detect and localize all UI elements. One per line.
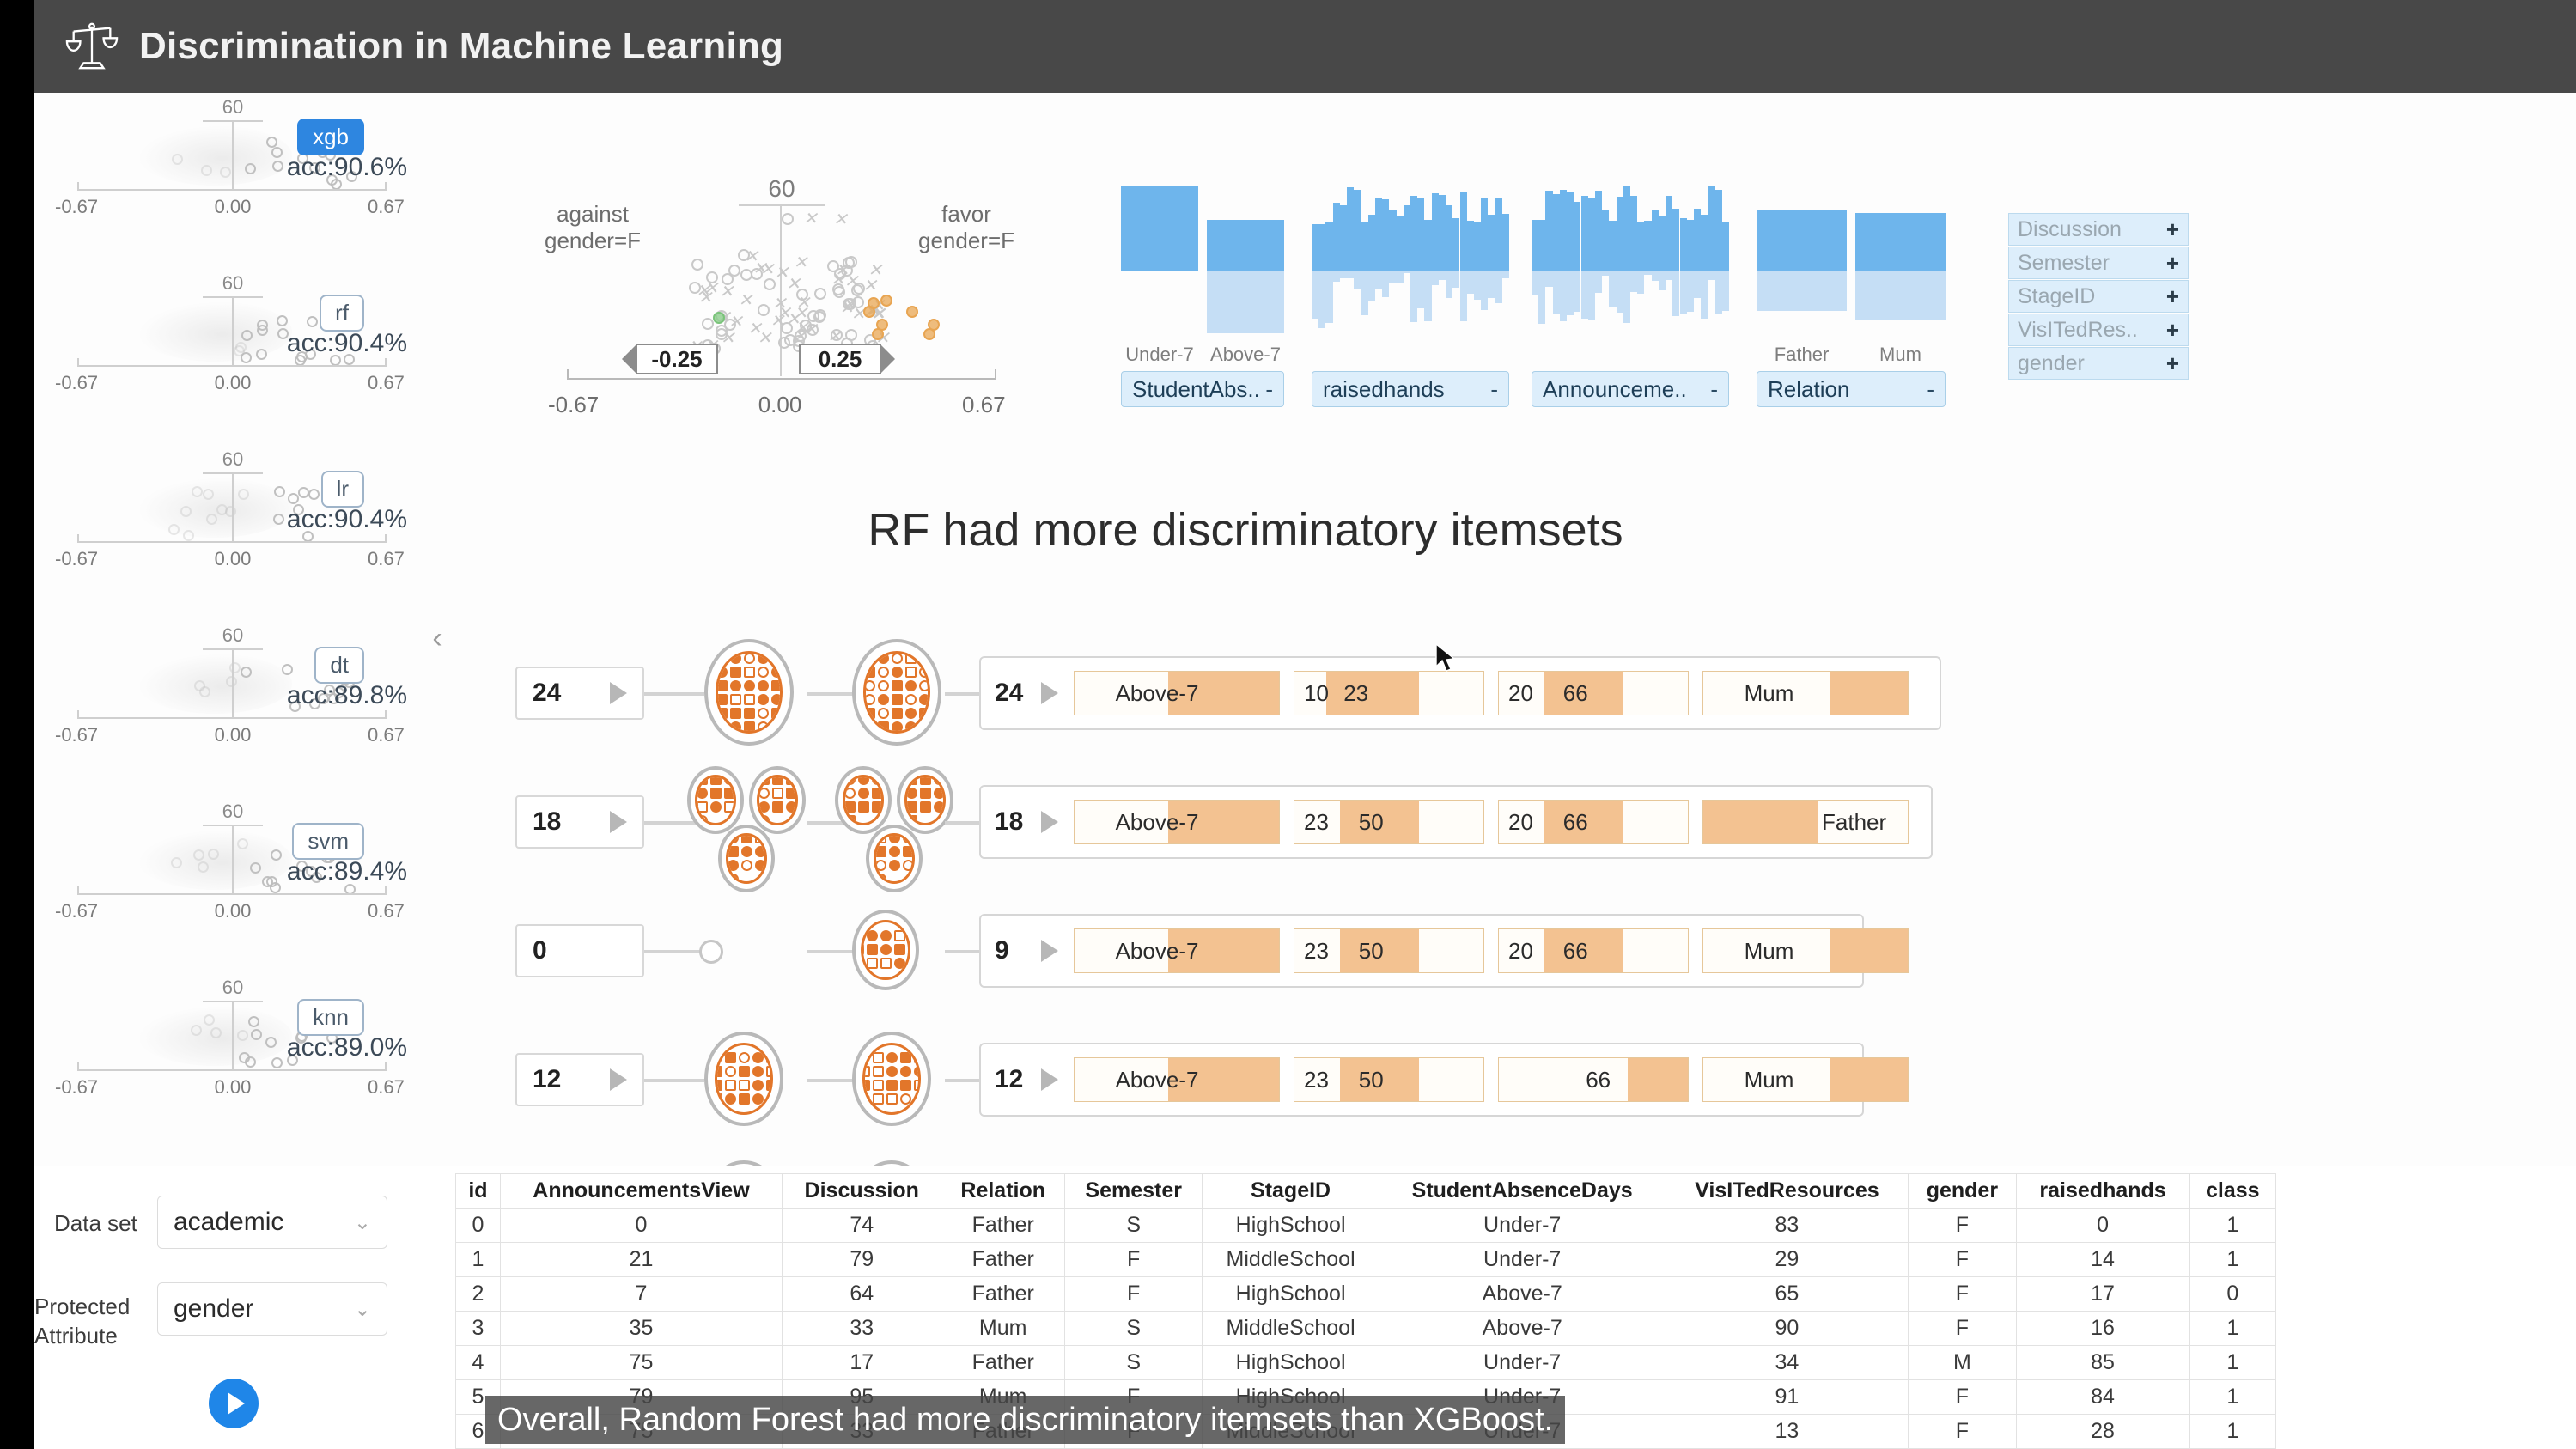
table-cell: Above-7 — [1379, 1277, 1666, 1312]
itemset-population-glyph[interactable] — [687, 766, 744, 834]
table-column-header[interactable]: gender — [1909, 1174, 2016, 1209]
main-canvas: 60-0.670.000.67xgbacc:90.6%60-0.670.000.… — [34, 93, 2576, 1166]
histogram-bar — [1715, 192, 1722, 338]
itemset-chip-range-high: 66 — [1586, 1067, 1611, 1093]
histogram-bar — [1630, 192, 1637, 338]
play-icon — [228, 1392, 245, 1415]
attribute-list-item-label: gender — [2018, 351, 2085, 376]
histogram-bar — [1567, 192, 1574, 338]
attribute-list-item-discussion[interactable]: Discussion+ — [2008, 213, 2189, 246]
histogram-bar — [1637, 192, 1644, 338]
itemset-connector — [644, 950, 704, 953]
histogram-group-2: Announceme..- — [1532, 192, 1729, 416]
caption-text: Overall, Random Forest had more discrimi… — [497, 1402, 1553, 1439]
add-attribute-icon[interactable]: + — [2166, 283, 2179, 310]
scatter-point — [751, 268, 763, 280]
histogram-category-label: Under-7 — [1121, 344, 1198, 366]
table-column-header[interactable]: AnnouncementsView — [500, 1174, 782, 1209]
scatter-point: ✕ — [835, 265, 847, 277]
table-cell: 28 — [2016, 1415, 2189, 1449]
model-axis-tick: -0.67 — [55, 372, 98, 394]
itemset-chip[interactable]: Above-7 — [1074, 928, 1280, 973]
table-cell: Father — [941, 1243, 1065, 1277]
scatter-point: ✕ — [786, 314, 798, 326]
table-cell: HighSchool — [1203, 1209, 1379, 1243]
histogram-attribute-select-0[interactable]: StudentAbs..- — [1121, 371, 1284, 407]
table-row[interactable]: 2764FatherFHighSchoolAbove-765F170 — [456, 1277, 2276, 1312]
itemset-population-glyph[interactable] — [866, 825, 923, 892]
model-accuracy-dt: acc:89.8% — [287, 681, 407, 710]
histogram-bar — [1581, 192, 1588, 338]
scatter-point: ✕ — [803, 213, 815, 225]
itemset-chip[interactable]: 2350 — [1294, 928, 1484, 973]
table-cell: 1 — [2189, 1415, 2275, 1449]
model-axis-horizontal — [77, 541, 387, 543]
itemset-chip[interactable]: 2066 — [1498, 800, 1689, 844]
histogram-bar — [1574, 192, 1580, 338]
itemset-chip-text: Above-7 — [1075, 801, 1279, 843]
itemset-chip[interactable]: Mum — [1702, 928, 1909, 973]
table-row[interactable]: 0074FatherSHighSchoolUnder-783F01 — [456, 1209, 2276, 1243]
table-column-header[interactable]: class — [2189, 1174, 2275, 1209]
table-cell: 4 — [456, 1346, 501, 1380]
histogram-bar — [1207, 192, 1284, 338]
itemset-population-glyph[interactable] — [835, 766, 892, 834]
model-axis-tick: 0.67 — [368, 724, 405, 746]
headline-text: RF had more discriminatory itemsets — [515, 503, 1976, 557]
model-axis-tick: -0.67 — [55, 196, 98, 218]
itemset-population-glyph[interactable] — [852, 1032, 931, 1126]
table-cell: 65 — [1666, 1277, 1909, 1312]
table-cell: F — [1909, 1243, 2016, 1277]
histogram-bar — [1333, 192, 1340, 338]
table-column-header[interactable]: StudentAbsenceDays — [1379, 1174, 1666, 1209]
model-accuracy-knn: acc:89.0% — [287, 1033, 407, 1062]
table-cell: F — [1065, 1277, 1203, 1312]
itemset-chip[interactable]: 2350 — [1294, 800, 1484, 844]
itemset-chip-label: Above-7 — [1116, 1067, 1199, 1093]
model-axis-tick: 0.00 — [203, 724, 263, 746]
table-cell: S — [1065, 1346, 1203, 1380]
attribute-list-item-visitedres-[interactable]: VisITedRes..+ — [2008, 314, 2189, 346]
itemset-chip[interactable]: 2066 — [1498, 671, 1689, 715]
histogram-bar — [1757, 192, 1847, 338]
table-column-header[interactable]: id — [456, 1174, 501, 1209]
itemset-chip[interactable]: 66 — [1498, 1057, 1689, 1102]
attribute-list-item-semester[interactable]: Semester+ — [2008, 247, 2189, 279]
model-cell-svm[interactable]: 60-0.670.000.67svmacc:89.4% — [34, 801, 429, 972]
chevron-down-icon: ⌄ — [354, 1297, 371, 1322]
scatter-point — [906, 306, 918, 318]
histogram-bar — [1644, 192, 1651, 338]
remove-attribute-icon[interactable]: - — [1710, 376, 1718, 403]
table-header-row: idAnnouncementsViewDiscussionRelationSem… — [456, 1174, 2276, 1209]
model-axis-vertical — [232, 120, 234, 191]
itemset-left-count: 24 — [533, 679, 561, 708]
table-cell: 74 — [783, 1209, 941, 1243]
itemset-chip-label: Father — [1822, 809, 1886, 836]
histogram-bar — [1361, 192, 1368, 338]
itemset-left-count-box[interactable]: 24 — [515, 667, 644, 720]
itemset-support-count: 9 — [995, 936, 1041, 965]
scatter-y-axis-top-label: 60 — [739, 175, 825, 206]
model-badge-knn[interactable]: knn — [297, 999, 364, 1036]
table-cell: 84 — [2016, 1380, 2189, 1415]
histogram-bar — [1553, 192, 1560, 338]
expand-triangle-icon[interactable] — [610, 1068, 627, 1091]
model-axis-vertical — [232, 472, 234, 543]
dataset-select-value: academic — [174, 1208, 283, 1237]
expand-triangle-icon[interactable] — [1041, 811, 1058, 833]
table-cell: HighSchool — [1203, 1346, 1379, 1380]
table-cell: 1 — [456, 1243, 501, 1277]
itemset-chip-range-high: 50 — [1359, 938, 1384, 965]
histogram-attribute-name: StudentAbs.. — [1132, 376, 1260, 403]
table-cell: 75 — [500, 1346, 782, 1380]
itemset-empty-glyph — [699, 940, 723, 964]
scatter-point: ✕ — [851, 308, 863, 320]
table-cell: 83 — [1666, 1209, 1909, 1243]
add-attribute-icon[interactable]: + — [2166, 317, 2179, 344]
itemset-chip-label: Mum — [1745, 680, 1794, 707]
histogram-attribute-select-3[interactable]: Relation- — [1757, 371, 1946, 407]
itemset-detail-box[interactable]: 18Above-723502066Father — [979, 785, 1933, 859]
scatter-point — [814, 309, 826, 321]
model-axis-tick: 0.00 — [203, 1076, 263, 1099]
model-badge-lr[interactable]: lr — [321, 471, 364, 508]
table-row[interactable]: 33533MumSMiddleSchoolAbove-790F161 — [456, 1312, 2276, 1346]
table-cell: 2 — [456, 1277, 501, 1312]
table-cell: 90 — [1666, 1312, 1909, 1346]
table-cell: 16 — [2016, 1312, 2189, 1346]
histogram-bar — [1666, 192, 1672, 338]
model-axis-tick: 0.67 — [368, 900, 405, 922]
table-cell: 34 — [1666, 1346, 1909, 1380]
model-cell-xgb[interactable]: 60-0.670.000.67xgbacc:90.6% — [34, 96, 429, 268]
histogram-bar — [1623, 192, 1630, 338]
table-cell: F — [1909, 1209, 2016, 1243]
table-cell: 64 — [783, 1277, 941, 1312]
histogram-bar — [1495, 192, 1502, 338]
table-cell: 14 — [2016, 1243, 2189, 1277]
itemset-support-count: 24 — [995, 679, 1041, 708]
scatter-point — [923, 328, 935, 340]
histogram-bar — [1382, 192, 1389, 338]
table-cell: 1 — [2189, 1312, 2275, 1346]
model-axis-tick: 0.67 — [368, 196, 405, 218]
model-badge-dt[interactable]: dt — [314, 647, 364, 684]
histogram-bar — [1446, 192, 1452, 338]
itemset-chip-label: Mum — [1745, 938, 1794, 965]
model-badge-xgb[interactable]: xgb — [297, 119, 364, 155]
add-attribute-icon[interactable]: + — [2166, 216, 2179, 243]
collapse-panel-handle[interactable]: ‹ — [423, 591, 452, 685]
table-cell: 1 — [2189, 1380, 2275, 1415]
table-cell: MiddleSchool — [1203, 1243, 1379, 1277]
model-axis-tick: -0.67 — [55, 900, 98, 922]
table-row[interactable]: 47517FatherSHighSchoolUnder-734M851 — [456, 1346, 2276, 1380]
histogram-bar — [1312, 192, 1318, 338]
model-axis-tick: -0.67 — [55, 548, 98, 570]
itemset-chip[interactable]: Mum — [1702, 1057, 1909, 1102]
model-badge-svm[interactable]: svm — [292, 823, 364, 860]
expand-triangle-icon[interactable] — [1041, 682, 1058, 704]
itemset-chip-text: 1023 — [1294, 672, 1483, 715]
itemset-chip-range-low: 23 — [1304, 1067, 1329, 1093]
itemset-chip-range-low: 10 — [1304, 680, 1329, 707]
scatter-point: ✕ — [868, 265, 880, 277]
itemset-row[interactable]: 09Above-723502066Mum — [515, 900, 2319, 1029]
scatter-brush-high[interactable]: 0.25 — [799, 344, 881, 374]
model-axis-top-label: 60 — [203, 448, 263, 474]
scatter-point — [764, 278, 776, 290]
itemset-chip[interactable]: Above-7 — [1074, 800, 1280, 844]
histogram-bar — [1701, 192, 1708, 338]
table-row[interactable]: 12179FatherFMiddleSchoolUnder-729F141 — [456, 1243, 2276, 1277]
itemset-chip[interactable]: Father — [1702, 800, 1909, 844]
itemset-chip-range-low: 23 — [1304, 809, 1329, 836]
itemset-chip-range-high: 66 — [1563, 809, 1588, 836]
table-column-header[interactable]: Relation — [941, 1174, 1065, 1209]
table-cell: F — [1909, 1277, 2016, 1312]
itemset-row[interactable]: 1818Above-723502066Father — [515, 771, 2319, 900]
histogram-bar — [1481, 192, 1488, 338]
itemset-chip-range-low: 20 — [1508, 680, 1533, 707]
protected-attribute-select[interactable]: gender ⌄ — [157, 1282, 387, 1336]
table-cell: 0 — [2189, 1277, 2275, 1312]
itemset-left-count: 0 — [533, 936, 547, 965]
histogram-bar — [1368, 192, 1375, 338]
caption-overlay: Overall, Random Forest had more discrimi… — [485, 1396, 1565, 1444]
table-cell: F — [1065, 1243, 1203, 1277]
attribute-histograms: Under-7Above-7StudentAbs..-raisedhands-A… — [1121, 192, 1946, 416]
itemset-chip-text: 2350 — [1294, 929, 1483, 972]
model-axis-horizontal — [77, 717, 387, 719]
histogram-attribute-name: Relation — [1768, 376, 1849, 403]
scatter-brush-low[interactable]: -0.25 — [636, 344, 718, 374]
mouse-cursor-icon — [1434, 642, 1457, 673]
attribute-list-item-gender[interactable]: gender+ — [2008, 347, 2189, 380]
expand-triangle-icon[interactable] — [610, 682, 627, 704]
histogram-bar — [1588, 192, 1595, 338]
expand-triangle-icon[interactable] — [610, 811, 627, 833]
itemset-chip-label: Above-7 — [1116, 680, 1199, 707]
itemset-population-glyph[interactable] — [852, 910, 919, 990]
itemset-chip[interactable]: 1023 — [1294, 671, 1484, 715]
itemset-chip-range-high: 66 — [1563, 938, 1588, 965]
scatter-point: ✕ — [772, 298, 784, 310]
itemset-left-count-box[interactable]: 0 — [515, 924, 644, 977]
scatter-point: ✕ — [803, 324, 815, 336]
table-cell: F — [1909, 1380, 2016, 1415]
itemset-chip-text: 66 — [1499, 1058, 1688, 1101]
histogram-bar — [1617, 192, 1623, 338]
model-axis-tick: 0.00 — [203, 196, 263, 218]
histogram-bar — [1694, 192, 1701, 338]
table-cell: 3 — [456, 1312, 501, 1346]
model-accuracy-rf: acc:90.4% — [287, 329, 407, 358]
scatter-point — [702, 318, 714, 330]
model-axis-horizontal — [77, 1069, 387, 1071]
itemset-connector — [644, 1079, 704, 1082]
model-axis-top-label: 60 — [203, 624, 263, 650]
histogram-bar — [1532, 192, 1538, 338]
itemset-chip-range-high: 23 — [1343, 680, 1368, 707]
histogram-bar — [1467, 192, 1474, 338]
histogram-bar — [1404, 192, 1410, 338]
table-cell: 0 — [2016, 1209, 2189, 1243]
itemset-population-glyph[interactable] — [718, 825, 775, 892]
model-cell-knn[interactable]: 60-0.670.000.67knnacc:89.0% — [34, 977, 429, 1148]
histogram-category-label: Above-7 — [1207, 344, 1284, 366]
model-badge-rf[interactable]: rf — [320, 295, 364, 332]
model-axis-vertical — [232, 1001, 234, 1071]
histogram-bar — [1347, 192, 1354, 338]
itemset-detail-box[interactable]: 24Above-710232066Mum — [979, 656, 1941, 730]
histogram-bar — [1502, 192, 1509, 338]
run-button[interactable] — [209, 1379, 259, 1428]
itemset-left-count-box[interactable]: 18 — [515, 795, 644, 849]
table-cell: 33 — [783, 1312, 941, 1346]
model-cell-lr[interactable]: 60-0.670.000.67lracc:90.4% — [34, 448, 429, 620]
add-attribute-icon[interactable]: + — [2166, 350, 2179, 377]
table-cell: 35 — [500, 1312, 782, 1346]
scatter-point: ✕ — [703, 283, 716, 295]
scatter-tick-left: -0.67 — [548, 392, 599, 418]
title-bar: Discrimination in Machine Learning — [34, 0, 2576, 93]
scatter-point — [863, 306, 875, 318]
expand-triangle-icon[interactable] — [1041, 940, 1058, 962]
histogram-bar — [1659, 192, 1666, 338]
scatter-tick-mid: 0.00 — [746, 392, 814, 418]
attribute-list-item-stageid[interactable]: StageID+ — [2008, 280, 2189, 313]
itemset-population-glyph[interactable] — [704, 1032, 783, 1126]
itemset-chip-range-low: 20 — [1508, 938, 1533, 965]
discrimination-scatter-plot[interactable]: against gender=F favor gender=F 60 ✕✕✕✕✕… — [515, 175, 1048, 467]
histogram-bar — [1410, 192, 1417, 338]
model-cell-rf[interactable]: 60-0.670.000.67rfacc:90.4% — [34, 272, 429, 444]
table-cell: Above-7 — [1379, 1312, 1666, 1346]
itemset-support-count: 12 — [995, 1065, 1041, 1094]
itemset-chip[interactable]: 2350 — [1294, 1057, 1484, 1102]
table-cell: 29 — [1666, 1243, 1909, 1277]
table-cell: F — [1909, 1415, 2016, 1449]
table-cell: 91 — [1666, 1380, 1909, 1415]
scatter-point: ✕ — [719, 286, 731, 298]
histogram-bar — [1595, 192, 1602, 338]
histogram-bar — [1460, 192, 1467, 338]
table-cell: S — [1065, 1209, 1203, 1243]
add-attribute-icon[interactable]: + — [2166, 250, 2179, 277]
histogram-category-label: Father — [1757, 344, 1847, 366]
remove-attribute-icon[interactable]: - — [1490, 376, 1498, 403]
itemset-population-glyph[interactable] — [852, 639, 941, 746]
histogram-bar — [1354, 192, 1361, 338]
table-cell: Father — [941, 1346, 1065, 1380]
histogram-bar — [1538, 192, 1545, 338]
histogram-bar — [1325, 192, 1332, 338]
scatter-tick-right: 0.67 — [962, 392, 1006, 418]
model-axis-tick: -0.67 — [55, 1076, 98, 1099]
itemset-chip-text: Father — [1703, 801, 1908, 843]
table-column-header[interactable]: VisITedResources — [1666, 1174, 1909, 1209]
itemset-population-glyph[interactable] — [704, 639, 794, 746]
table-column-header[interactable]: StageID — [1203, 1174, 1379, 1209]
itemset-chip[interactable]: Above-7 — [1074, 671, 1280, 715]
itemset-row[interactable]: 2424Above-710232066Mum — [515, 642, 2319, 771]
remove-attribute-icon[interactable]: - — [1927, 376, 1934, 403]
scatter-point — [782, 213, 794, 225]
model-axis-top-label: 60 — [203, 96, 263, 122]
protected-attribute-label-line2: Attribute — [34, 1322, 130, 1351]
table-column-header[interactable]: raisedhands — [2016, 1174, 2189, 1209]
table-cell: 17 — [783, 1346, 941, 1380]
itemset-chip[interactable]: Above-7 — [1074, 1057, 1280, 1102]
model-axis-tick: 0.67 — [368, 548, 405, 570]
available-attributes-list: Discussion+Semester+StageID+VisITedRes..… — [2008, 213, 2189, 381]
scatter-point — [880, 295, 892, 307]
itemset-chip-label: Above-7 — [1116, 938, 1199, 965]
scatter-point — [691, 259, 703, 271]
itemset-detail-box[interactable]: 9Above-723502066Mum — [979, 914, 1864, 988]
model-cell-dt[interactable]: 60-0.670.000.67dtacc:89.8% — [34, 624, 429, 796]
attribute-list-item-label: Semester — [2018, 251, 2110, 276]
itemset-connector — [644, 692, 704, 696]
histogram-bar — [1318, 192, 1325, 338]
histogram-bar — [1424, 192, 1431, 338]
itemset-chip-text: Mum — [1703, 672, 1908, 715]
histogram-bar — [1687, 192, 1694, 338]
model-accuracy-xgb: acc:90.6% — [287, 153, 407, 182]
scatter-point: ✕ — [738, 295, 750, 307]
itemset-chip[interactable]: 2066 — [1498, 928, 1689, 973]
model-axis-top-label: 60 — [203, 977, 263, 1002]
histogram-bar — [1672, 192, 1679, 338]
itemset-row[interactable]: 1212Above-7235066Mum — [515, 1029, 2319, 1158]
dataset-select[interactable]: academic ⌄ — [157, 1196, 387, 1249]
scatter-point: ✕ — [795, 297, 807, 309]
expand-triangle-icon[interactable] — [1041, 1068, 1058, 1091]
table-column-header[interactable]: Semester — [1065, 1174, 1203, 1209]
histogram-attribute-select-2[interactable]: Announceme..- — [1532, 371, 1729, 407]
table-column-header[interactable]: Discussion — [783, 1174, 941, 1209]
histogram-attribute-select-1[interactable]: raisedhands- — [1312, 371, 1509, 407]
attribute-list-item-label: Discussion — [2018, 217, 2122, 242]
scatter-x-axis — [567, 378, 996, 380]
model-axis-top-label: 60 — [203, 801, 263, 826]
itemset-left-count-box[interactable]: 12 — [515, 1053, 644, 1106]
model-axis-vertical — [232, 296, 234, 367]
histogram-bar — [1121, 192, 1198, 338]
itemset-chip-range-high: 50 — [1359, 1067, 1384, 1093]
model-axis-horizontal — [77, 893, 387, 895]
page-title: Discrimination in Machine Learning — [139, 25, 783, 68]
scatter-point — [845, 329, 857, 341]
histogram-bar — [1397, 192, 1404, 338]
table-cell: F — [1909, 1312, 2016, 1346]
scatter-point: ✕ — [758, 332, 770, 344]
itemset-detail-box[interactable]: 12Above-7235066Mum — [979, 1043, 1864, 1117]
remove-attribute-icon[interactable]: - — [1265, 376, 1273, 403]
itemset-chip[interactable]: Mum — [1702, 671, 1909, 715]
scatter-point — [814, 288, 826, 300]
scatter-point — [833, 286, 845, 298]
model-axis-horizontal — [77, 189, 387, 191]
model-axis-tick: 0.00 — [203, 372, 263, 394]
itemset-left-count: 18 — [533, 807, 561, 837]
itemset-population-glyph[interactable] — [749, 766, 806, 834]
itemset-chip-range-high: 50 — [1359, 809, 1384, 836]
